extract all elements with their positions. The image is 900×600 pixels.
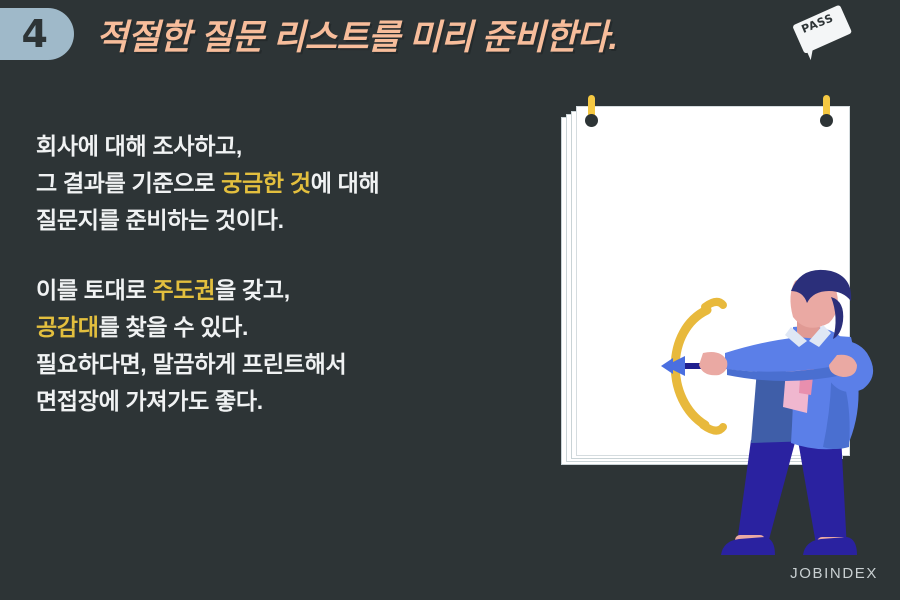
body-text-run: 필요하다면, 말끔하게 프린트해서	[36, 351, 346, 377]
body-line: 필요하다면, 말끔하게 프린트해서	[36, 346, 506, 383]
body-text-run: 을 갖고,	[215, 277, 290, 303]
body-copy: 회사에 대해 조사하고,그 결과를 기준으로 궁금한 것에 대해질문지를 준비하…	[36, 128, 506, 420]
illustration	[545, 95, 900, 555]
slide-root: 4 적절한 질문 리스트를 미리 준비한다. PASS 회사에 대해 조사하고,…	[0, 0, 900, 600]
body-text-run: 를 찾을 수 있다.	[99, 314, 249, 340]
archer-figure	[545, 95, 900, 555]
body-line: 공감대를 찾을 수 있다.	[36, 309, 506, 346]
leg-back	[797, 435, 847, 550]
body-text-run: 이를 토대로	[36, 277, 152, 303]
page-title: 적절한 질문 리스트를 미리 준비한다.	[96, 8, 618, 60]
body-text-run: 면접장에 가져가도 좋다.	[36, 388, 263, 414]
clip-head	[820, 114, 833, 127]
body-text-run: 에 대해	[311, 170, 380, 196]
body-line: 이를 토대로 주도권을 갖고,	[36, 272, 506, 309]
step-number: 4	[22, 15, 48, 53]
paragraph-2: 이를 토대로 주도권을 갖고,공감대를 찾을 수 있다.필요하다면, 말끔하게 …	[36, 272, 506, 420]
paper-clip-left-icon	[585, 95, 598, 129]
watermark: JOBINDEX	[790, 565, 878, 582]
body-line: 그 결과를 기준으로 궁금한 것에 대해	[36, 165, 506, 202]
arrow-head-tip	[661, 358, 673, 374]
paragraph-spacer	[36, 239, 506, 272]
slide-header: 4 적절한 질문 리스트를 미리 준비한다. PASS	[0, 0, 900, 84]
shoe-back	[803, 537, 857, 555]
body-text-run: 질문지를 준비하는 것이다.	[36, 207, 284, 233]
body-text-run: 그 결과를 기준으로	[36, 170, 221, 196]
body-line: 면접장에 가져가도 좋다.	[36, 383, 506, 420]
paper-clip-right-icon	[820, 95, 833, 129]
bow-tip-bottom	[703, 425, 723, 431]
paragraph-1: 회사에 대해 조사하고,그 결과를 기준으로 궁금한 것에 대해질문지를 준비하…	[36, 128, 506, 239]
highlighted-text: 궁금한 것	[221, 170, 311, 196]
leg-front	[737, 435, 797, 547]
pass-stamp-icon: PASS	[788, 5, 857, 68]
body-text-run: 회사에 대해 조사하고,	[36, 133, 242, 159]
step-number-badge: 4	[0, 8, 74, 60]
clip-head	[585, 114, 598, 127]
bow-tip-top	[705, 302, 723, 307]
highlighted-text: 공감대	[36, 314, 99, 340]
body-line: 질문지를 준비하는 것이다.	[36, 202, 506, 239]
shoe-front	[721, 537, 775, 555]
hand-bow-grip	[699, 352, 727, 375]
highlighted-text: 주도권	[152, 277, 215, 303]
body-line: 회사에 대해 조사하고,	[36, 128, 506, 165]
